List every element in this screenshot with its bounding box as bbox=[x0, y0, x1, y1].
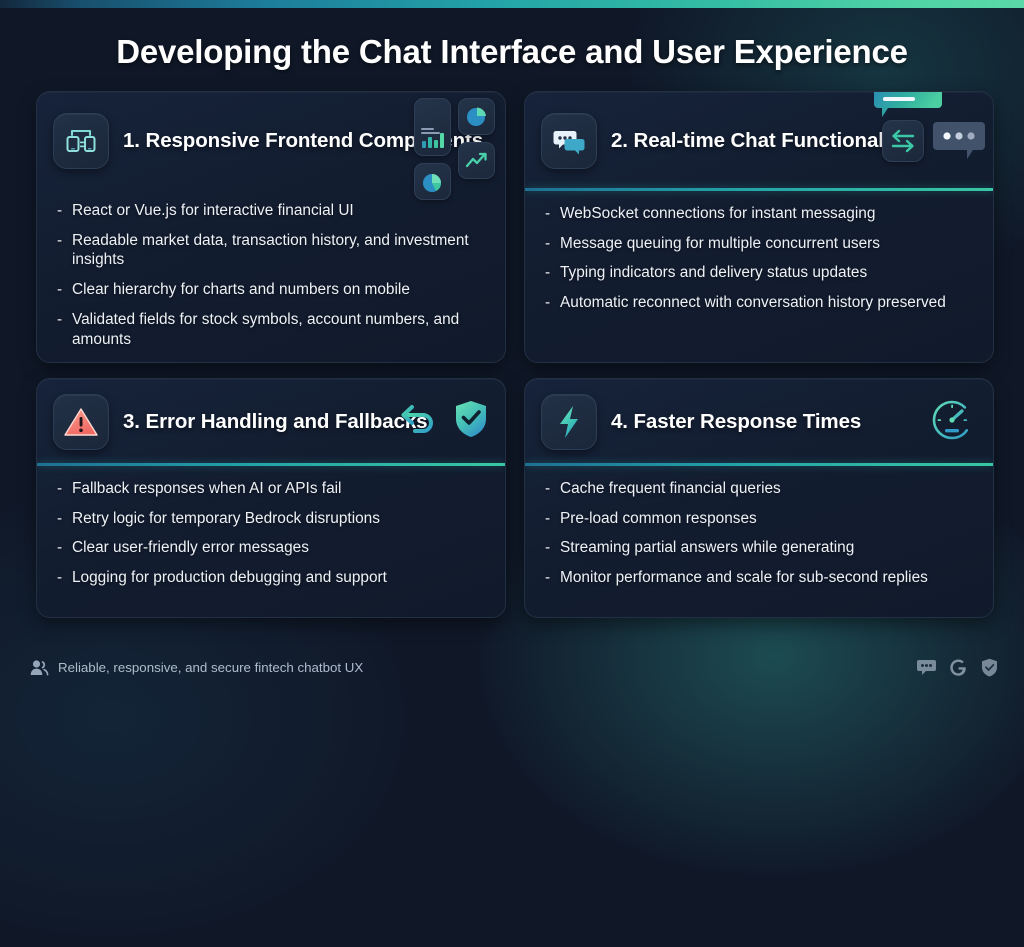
chat-bubbles-icon bbox=[541, 113, 597, 169]
footer-right bbox=[917, 658, 998, 677]
list-item: WebSocket connections for instant messag… bbox=[545, 204, 975, 224]
card-faster-response-times[interactable]: 4. Faster Response Times bbox=[524, 378, 994, 618]
card-body: Cache frequent financial queries Pre-loa… bbox=[525, 466, 993, 617]
card-decoration-icons bbox=[414, 98, 495, 200]
card-decoration-icons bbox=[399, 399, 489, 439]
exchange-arrows-icon bbox=[882, 120, 924, 162]
list-item: Monitor performance and scale for sub-se… bbox=[545, 568, 975, 588]
card-error-handling-and-fallbacks[interactable]: 3. Error Handling and Fallbacks bbox=[36, 378, 506, 618]
responsive-devices-icon bbox=[53, 113, 109, 169]
list-item: Cache frequent financial queries bbox=[545, 479, 975, 499]
cards-grid: 1. Responsive Frontend Components bbox=[36, 91, 1024, 618]
top-gradient-bar bbox=[0, 0, 1024, 8]
page-title: Developing the Chat Interface and User E… bbox=[0, 33, 1024, 71]
footer-left: Reliable, responsive, and secure fintech… bbox=[30, 659, 363, 676]
list-item: Fallback responses when AI or APIs fail bbox=[57, 479, 487, 499]
list-item: Validated fields for stock symbols, acco… bbox=[57, 310, 487, 349]
message-lines-bubble-icon bbox=[874, 91, 942, 116]
undo-arrow-icon bbox=[399, 402, 439, 436]
bullet-list: React or Vue.js for interactive financia… bbox=[57, 201, 487, 349]
pie-chart-icon bbox=[458, 98, 495, 135]
list-item: Logging for production debugging and sup… bbox=[57, 568, 487, 588]
card-responsive-frontend-components[interactable]: 1. Responsive Frontend Components bbox=[36, 91, 506, 363]
card-decoration-icons bbox=[929, 397, 975, 443]
card-decoration-icons bbox=[874, 91, 985, 164]
card-realtime-chat-functionality[interactable]: 2. Real-time Chat Functionality bbox=[524, 91, 994, 363]
card-header: 2. Real-time Chat Functionality bbox=[525, 92, 993, 188]
bullet-list: Cache frequent financial queries Pre-loa… bbox=[545, 479, 975, 588]
list-item: Clear user-friendly error messages bbox=[57, 538, 487, 558]
list-item: Streaming partial answers while generati… bbox=[545, 538, 975, 558]
lightning-bolt-icon bbox=[541, 394, 597, 450]
bar-chart-icon bbox=[414, 98, 451, 156]
pie-chart-split-icon bbox=[414, 163, 451, 200]
footer: Reliable, responsive, and secure fintech… bbox=[0, 647, 1024, 687]
trend-up-icon bbox=[458, 142, 495, 179]
chat-dots-icon[interactable] bbox=[917, 659, 936, 676]
list-item: Pre-load common responses bbox=[545, 509, 975, 529]
card-body: Fallback responses when AI or APIs fail … bbox=[37, 466, 505, 617]
shield-check-icon[interactable] bbox=[981, 658, 998, 677]
list-item: Typing indicators and delivery status up… bbox=[545, 263, 975, 283]
footer-caption: Reliable, responsive, and secure fintech… bbox=[58, 660, 363, 675]
slide-page: Developing the Chat Interface and User E… bbox=[0, 0, 1024, 687]
shield-check-icon bbox=[453, 399, 489, 439]
bullet-list: WebSocket connections for instant messag… bbox=[545, 204, 975, 313]
list-item: Retry logic for temporary Bedrock disrup… bbox=[57, 509, 487, 529]
warning-triangle-icon bbox=[53, 394, 109, 450]
card-header: 1. Responsive Frontend Components bbox=[37, 92, 505, 188]
list-item: Message queuing for multiple concurrent … bbox=[545, 234, 975, 254]
card-title: 4. Faster Response Times bbox=[611, 409, 979, 434]
list-item: Readable market data, transaction histor… bbox=[57, 231, 487, 270]
g-logo-icon[interactable] bbox=[949, 658, 968, 677]
bullet-list: Fallback responses when AI or APIs fail … bbox=[57, 479, 487, 588]
card-body: React or Vue.js for interactive financia… bbox=[37, 188, 505, 363]
list-item: Clear hierarchy for charts and numbers o… bbox=[57, 280, 487, 300]
speedometer-icon bbox=[929, 397, 975, 443]
card-header: 4. Faster Response Times bbox=[525, 379, 993, 463]
users-icon bbox=[30, 659, 49, 676]
list-item: Automatic reconnect with conversation hi… bbox=[545, 293, 975, 313]
card-header: 3. Error Handling and Fallbacks bbox=[37, 379, 505, 463]
list-item: React or Vue.js for interactive financia… bbox=[57, 201, 487, 221]
card-body: WebSocket connections for instant messag… bbox=[525, 191, 993, 362]
typing-dots-bubble-icon bbox=[933, 120, 985, 164]
